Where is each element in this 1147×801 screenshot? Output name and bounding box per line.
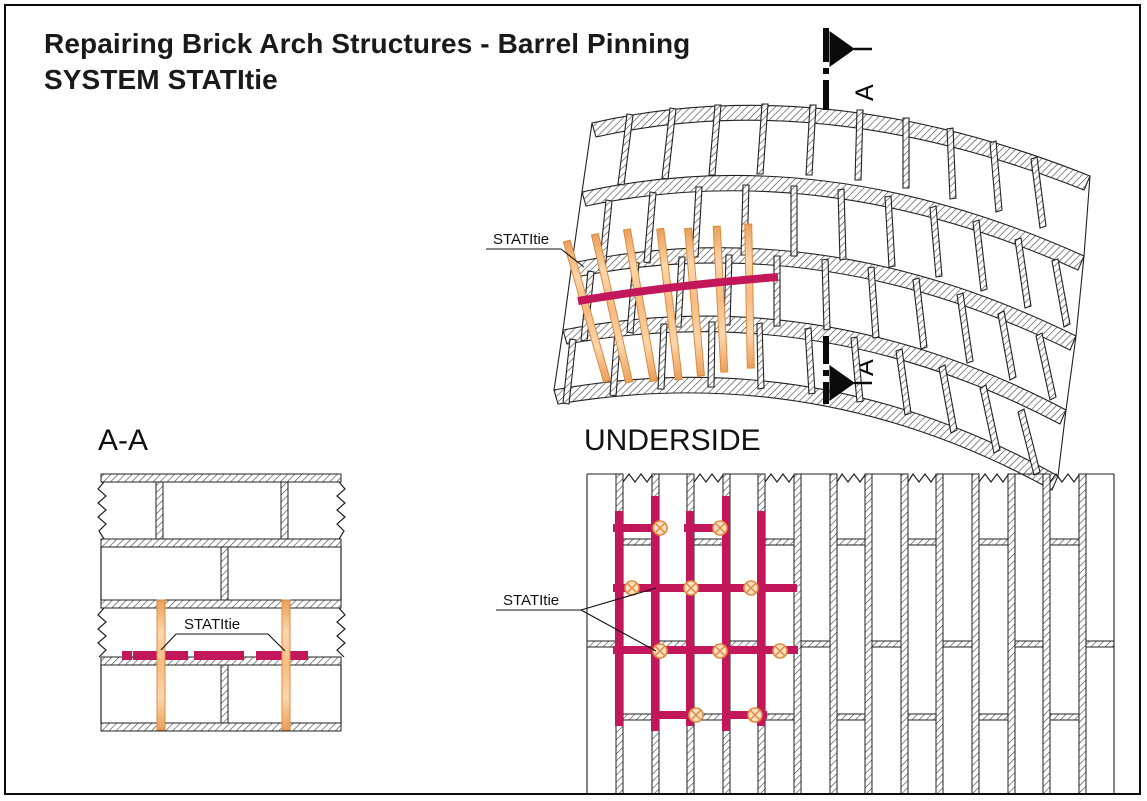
pin-marker [713, 521, 727, 535]
underside-tie-leader-lines [496, 588, 656, 651]
drawing-frame: Repairing Brick Arch Structures - Barrel… [4, 4, 1141, 795]
underside-plan-view [496, 474, 1114, 794]
arch-elevation-view [486, 28, 1090, 490]
pin-marker [773, 644, 787, 658]
pin-marker [653, 521, 667, 535]
section-aa-tie-leader-line [161, 634, 285, 651]
pin-marker [748, 708, 762, 722]
section-marker-top [826, 28, 872, 110]
section-aa-statitie-tie [122, 651, 308, 660]
technical-drawing-canvas [6, 6, 1141, 795]
pin-marker [625, 581, 639, 595]
pin-marker [713, 644, 727, 658]
section-aa-view [98, 474, 345, 731]
pin-marker [744, 581, 758, 595]
pin-marker [684, 581, 698, 595]
underside-statitie-grid [613, 496, 798, 731]
underside-brick-outlines [587, 474, 1114, 794]
pin-marker [689, 708, 703, 722]
